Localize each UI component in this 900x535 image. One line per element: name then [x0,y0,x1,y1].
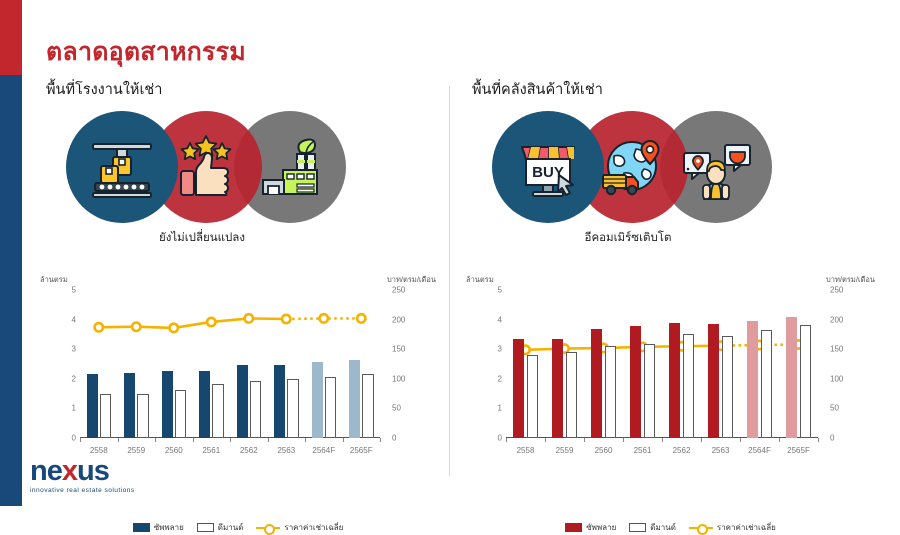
bar-demand [287,379,298,438]
bar-supply [708,324,720,438]
x-tickmark [193,438,194,442]
venn-icons-warehouse: BUY [458,105,883,225]
bar-supply [237,365,248,438]
rail-blue-segment [0,75,22,506]
line-marker [320,314,328,322]
legend-swatch-rent-price [256,523,280,532]
y-tick-right: 50 [830,404,870,413]
legend-label-rent-price: ราคาค่าเช่าเฉลี่ย [284,521,343,534]
x-tickmark [701,438,702,442]
bar-supply [162,371,173,438]
panel-caption-warehouse: อีคอมเมิร์ซเติบโต [458,229,798,247]
y-tick-right: 100 [830,374,870,383]
x-axis-label: 2563 [701,446,741,455]
x-axis-label: 2565F [341,446,381,455]
legend-swatch-demand [197,523,214,532]
x-tickmark [155,438,156,442]
y-tick-right: 150 [830,345,870,354]
right-axis-title: บาท/ตรม/เดือน [826,274,875,286]
x-tickmark [305,438,306,442]
left-axis-title: ล้านตรม [40,274,68,286]
bar-supply [630,326,642,438]
bar-demand [100,394,111,438]
x-axis-label: 2565F [779,446,819,455]
bar-demand [683,334,695,438]
bar-demand [137,394,148,438]
y-tick-right: 0 [830,434,870,443]
legend-item-supply: ซัพพลาย [565,521,616,534]
line-marker [245,314,253,322]
bar-demand [527,355,539,438]
logo-text-x: x [62,455,77,487]
legend-factory: ซัพพลาย ดีมานด์ ราคาค่าเช่าเฉลี่ย [32,521,444,534]
bar-demand [250,381,261,438]
x-axis-label: 2564F [304,446,344,455]
legend-label-demand: ดีมานด์ [650,521,676,534]
y-tick-right: 0 [392,434,432,443]
line-forecast-segment [286,318,361,319]
legend-swatch-supply [133,523,150,532]
legend-item-supply: ซัพพลาย [133,521,184,534]
bar-supply [199,371,210,438]
x-tickmark [380,438,381,442]
bar-supply [513,339,525,438]
x-tickmark [779,438,780,442]
panel-title-factory: พื้นที่โรงงานให้เช่า [46,78,444,101]
y-tick-right: 250 [830,286,870,295]
panel-warehouse-space: พื้นที่คลังสินค้าให้เช่า BUY [458,78,883,490]
left-accent-rail [0,0,22,506]
x-tickmark [343,438,344,442]
x-tickmark [230,438,231,442]
y-tick-left: 5 [462,286,502,295]
line-marker [132,323,140,331]
bar-demand [362,374,373,438]
y-tick-left: 4 [462,315,502,324]
bar-demand [325,377,336,438]
nexus-logo: nexus innovative real estate solutions [30,457,160,494]
bar-supply [552,339,564,438]
plot-area-warehouse: 0123450501001502002502558255925602561256… [506,290,818,438]
bar-supply [786,317,798,438]
line-marker [282,315,290,323]
x-tickmark [662,438,663,442]
logo-text-part1: ne [30,455,62,487]
x-axis-label: 2564F [740,446,780,455]
x-tickmark [118,438,119,442]
y-tick-left: 0 [36,434,76,443]
legend-label-supply: ซัพพลาย [586,521,616,534]
x-tickmark [268,438,269,442]
bar-demand [566,352,578,438]
customer-support-chat-icon [660,111,772,223]
logo-tagline: innovative real estate solutions [30,487,160,494]
line-marker [207,318,215,326]
x-axis-label: 2559 [545,446,585,455]
bar-demand [800,325,812,438]
x-axis-label: 2560 [154,446,194,455]
y-tick-right: 200 [830,315,870,324]
venn-icons-factory: ยังไม่เปลี่ยนแปลง [32,105,444,225]
legend-item-rent-price: ราคาค่าเช่าเฉลี่ย [256,521,343,534]
line-marker [95,323,103,331]
x-axis-label: 2560 [584,446,624,455]
y-tick-right: 150 [392,345,432,354]
bar-demand [605,346,617,438]
plot-area-factory: 0123450501001502002502558255925602561256… [80,290,380,438]
x-axis-label: 2561 [623,446,663,455]
x-tickmark [818,438,819,442]
bar-supply [312,362,323,438]
legend-item-demand: ดีมานด์ [629,521,676,534]
y-tick-left: 1 [36,404,76,413]
x-axis-label: 2562 [229,446,269,455]
y-tick-left: 2 [36,374,76,383]
warehouse-space-chart: ล้านตรม บาท/ตรม/เดือน 012345050100150200… [458,274,883,490]
y-tick-right: 200 [392,315,432,324]
panel-factory-space: พื้นที่โรงงานให้เช่า [32,78,444,490]
x-axis-label: 2563 [266,446,306,455]
y-tick-right: 50 [392,404,432,413]
legend-swatch-supply [565,523,582,532]
bar-demand [722,336,734,438]
right-axis-title: บาท/ตรม/เดือน [387,274,436,286]
legend-label-supply: ซัพพลาย [154,521,184,534]
bar-supply [87,374,98,438]
bar-demand [175,390,186,438]
page-title: ตลาดอุตสาหกรรม [46,32,246,72]
y-tick-left: 3 [462,345,502,354]
x-axis-label: 2558 [506,446,546,455]
bar-supply [591,329,603,438]
bar-supply [349,360,360,438]
panel-caption-factory: ยังไม่เปลี่ยนแปลง [32,229,372,247]
green-factory-leaf-icon [234,111,346,223]
y-tick-left: 2 [462,374,502,383]
rail-red-segment [0,0,22,75]
legend-item-rent-price: ราคาค่าเช่าเฉลี่ย [689,521,776,534]
x-tickmark [623,438,624,442]
legend-item-demand: ดีมานด์ [197,521,244,534]
x-axis-label: 2558 [79,446,119,455]
y-tick-left: 1 [462,404,502,413]
x-tickmark [506,438,507,442]
y-tick-left: 3 [36,345,76,354]
legend-warehouse: ซัพพลาย ดีมานด์ ราคาค่าเช่าเฉลี่ย [458,521,883,534]
bar-supply [274,365,285,438]
bar-supply [669,323,681,438]
x-tickmark [545,438,546,442]
y-tick-left: 4 [36,315,76,324]
y-tick-left: 5 [36,286,76,295]
x-tickmark [584,438,585,442]
logo-text-part2: us [77,455,109,487]
bar-supply [747,321,759,439]
panel-divider [449,86,450,476]
legend-swatch-demand [629,523,646,532]
x-axis-label: 2562 [662,446,702,455]
y-tick-right: 100 [392,374,432,383]
bar-demand [212,384,223,438]
line-marker [357,314,365,322]
panel-title-warehouse: พื้นที่คลังสินค้าให้เช่า [472,78,883,101]
bar-supply [124,373,135,438]
legend-label-demand: ดีมานด์ [218,521,244,534]
line-actual-segment [99,318,287,327]
x-axis-label: 2561 [191,446,231,455]
logo-wordmark: nexus [30,457,160,486]
legend-swatch-rent-price [689,523,713,532]
x-axis-label: 2559 [116,446,156,455]
x-tickmark [80,438,81,442]
line-marker [170,324,178,332]
left-axis-title: ล้านตรม [466,274,494,286]
y-tick-right: 250 [392,286,432,295]
legend-label-rent-price: ราคาค่าเช่าเฉลี่ย [717,521,776,534]
bar-demand [644,344,656,438]
y-tick-left: 0 [462,434,502,443]
x-tickmark [740,438,741,442]
bar-demand [761,330,773,438]
